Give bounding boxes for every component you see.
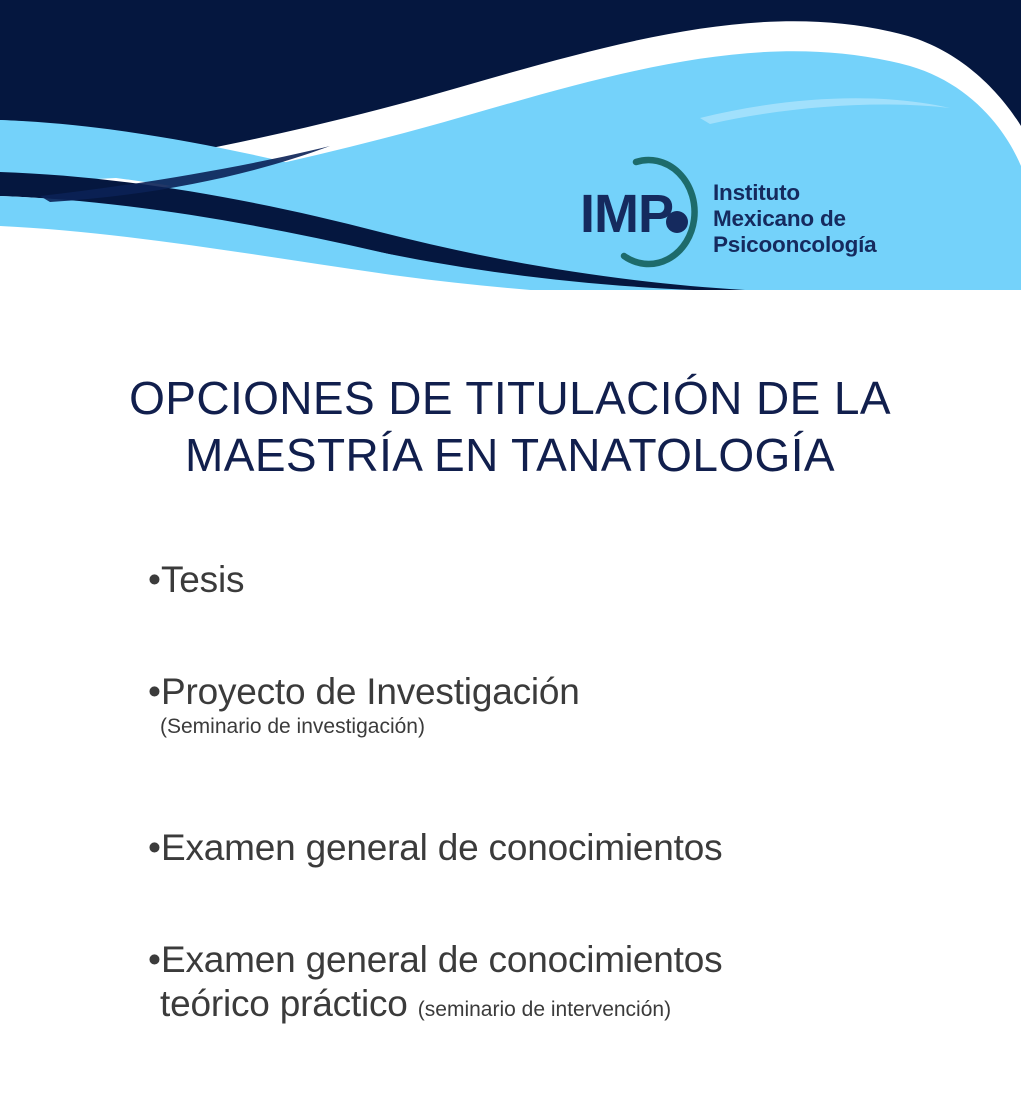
bullet-marker-icon: • <box>148 939 161 980</box>
bullet-text: Proyecto de Investigación <box>161 671 580 712</box>
bullet-text: Examen general de conocimientos <box>161 827 722 868</box>
bullet-marker-icon: • <box>148 827 161 868</box>
bullet-continuation-text: teórico práctico <box>160 983 408 1024</box>
logo-name-line-3: Psicooncología <box>713 232 876 258</box>
bullet-inline-note: (seminario de intervención) <box>418 998 671 1021</box>
logo-wordmark: Instituto Mexicano de Psicooncología <box>713 180 876 258</box>
bullet-line: •Proyecto de Investigación <box>148 670 948 714</box>
bullet-sub-note: (Seminario de investigación) <box>148 714 948 740</box>
slide: IMP Instituto Mexicano de Psicooncología… <box>0 0 1021 1102</box>
bullet-line: •Tesis <box>148 558 948 602</box>
logo-imp-text: IMP <box>580 184 673 244</box>
bullet-line: •Examen general de conocimientos <box>148 826 948 870</box>
list-item: •Proyecto de Investigación (Seminario de… <box>148 670 948 740</box>
bullet-text: Tesis <box>161 559 244 600</box>
logo: IMP Instituto Mexicano de Psicooncología <box>578 152 898 272</box>
list-item: •Examen general de conocimientos teórico… <box>148 938 948 1032</box>
list-item: •Tesis <box>148 558 948 602</box>
imp-logo-mark-icon: IMP <box>578 152 723 272</box>
logo-name-line-2: Mexicano de <box>713 206 876 232</box>
logo-name-line-1: Instituto <box>713 180 876 206</box>
list-item: •Examen general de conocimientos <box>148 826 948 870</box>
bullet-text: Examen general de conocimientos <box>161 939 722 980</box>
bullet-continuation-line: teórico práctico (seminario de intervenc… <box>148 982 948 1032</box>
page-title-line-1: OPCIONES DE TITULACIÓN DE LA <box>60 370 960 427</box>
logo-period-dot <box>666 211 688 233</box>
bullet-marker-icon: • <box>148 671 161 712</box>
page-title-line-2: MAESTRÍA EN TANATOLOGÍA <box>60 427 960 484</box>
bullet-line: •Examen general de conocimientos <box>148 938 948 982</box>
bullet-marker-icon: • <box>148 559 161 600</box>
page-title: OPCIONES DE TITULACIÓN DE LA MAESTRÍA EN… <box>60 370 960 484</box>
